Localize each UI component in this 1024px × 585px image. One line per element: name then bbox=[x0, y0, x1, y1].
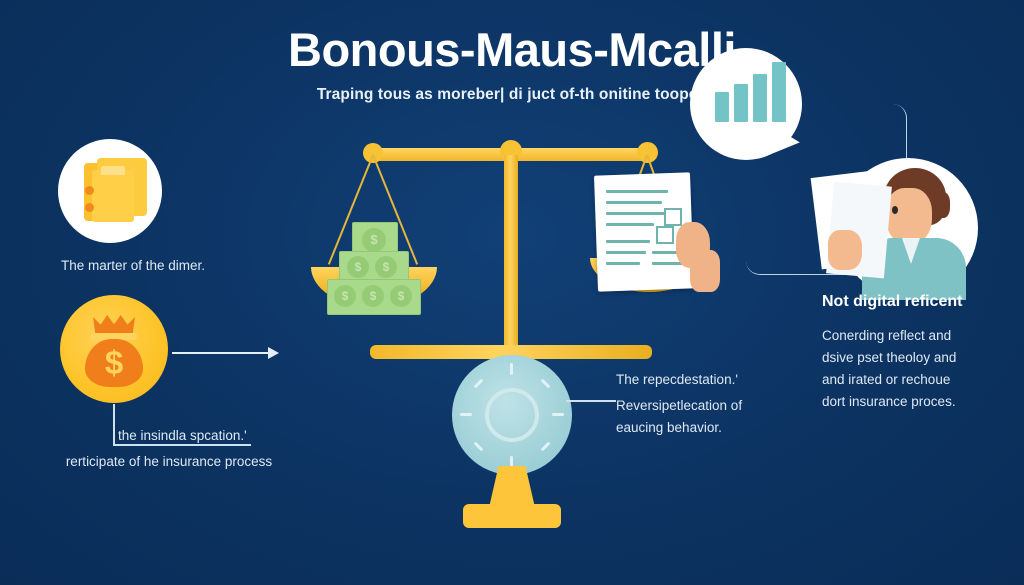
right-block-line-1: Conerding reflect and bbox=[822, 326, 1022, 346]
dial-caption-line2: eaucing behavior. bbox=[616, 418, 826, 438]
money-badge-caption-line2: rerticipate of he insurance process bbox=[24, 452, 314, 472]
infographic-canvas: Bonous-Maus-Mcalli Traping tous as moreb… bbox=[0, 0, 1024, 585]
person-face bbox=[886, 188, 932, 244]
dial-connector-line bbox=[566, 400, 616, 402]
page-subtitle: Traping tous as moreber| di juct of-th o… bbox=[0, 86, 1024, 104]
dial-base-plate bbox=[463, 504, 561, 528]
folder-badge-caption: The marter of the dimer. bbox=[18, 256, 248, 276]
person-hand bbox=[828, 230, 862, 270]
right-block-heading: Not digital reficent bbox=[822, 293, 1018, 311]
chart-bar-1 bbox=[715, 92, 729, 122]
dial-caption-heading: The repecdestation.' bbox=[616, 370, 816, 390]
flow-arrow-head bbox=[268, 347, 279, 359]
money-badge-caption-line1: the insindla spcation.' bbox=[118, 426, 308, 446]
right-block-line-3: and irated or rechoue bbox=[822, 370, 1022, 390]
right-block-line-2: dsive pset theoloy and bbox=[822, 348, 1022, 368]
dial-caption-line1: Reversipetlecation of bbox=[616, 396, 826, 416]
right-block-line-4: dort insurance proces. bbox=[822, 392, 1022, 412]
page-title: Bonous-Maus-Mcalli bbox=[0, 22, 1024, 77]
flow-arrow-shaft bbox=[172, 352, 270, 354]
person-eye bbox=[892, 206, 898, 214]
money-badge-connector-vertical bbox=[113, 404, 115, 446]
person-hair-tail bbox=[934, 192, 950, 218]
scale-post bbox=[504, 155, 518, 355]
dial-inner-ring bbox=[485, 388, 539, 442]
